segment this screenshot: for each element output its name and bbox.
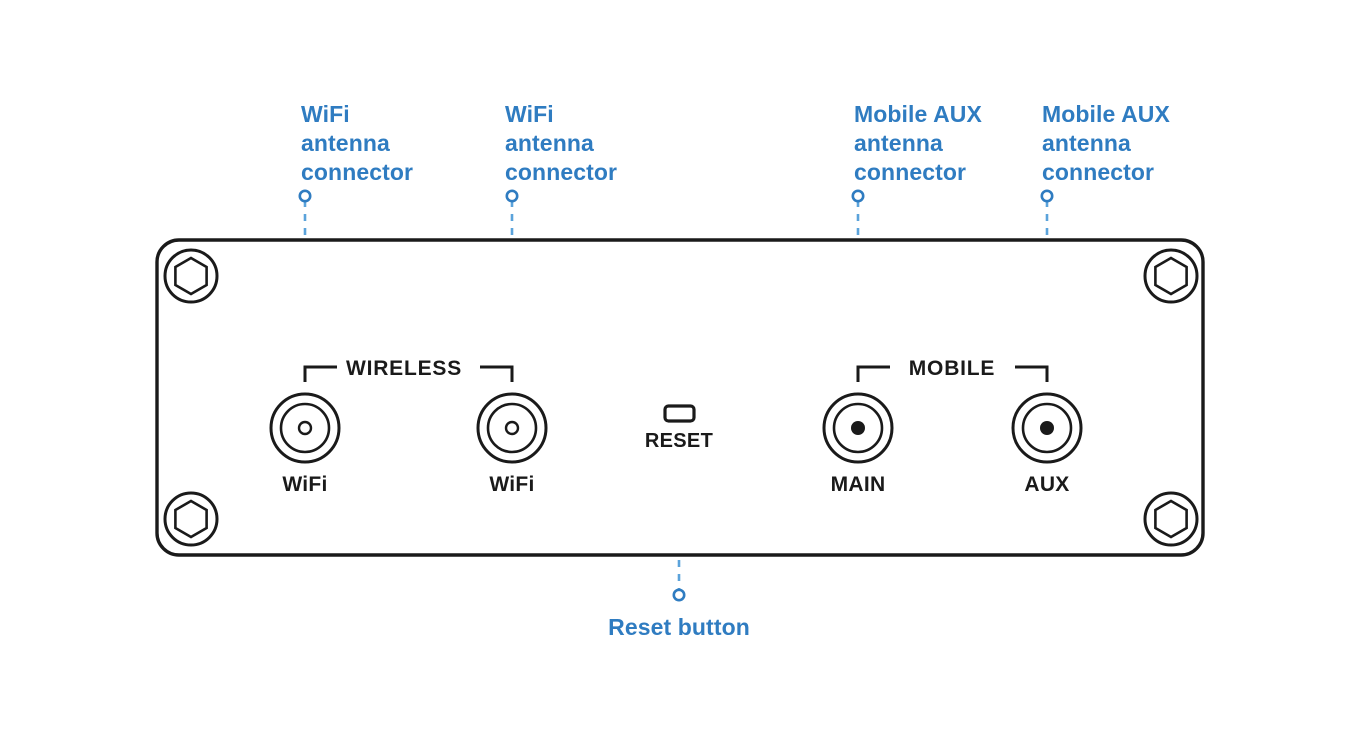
callout-mobile-main-line-2: antenna [854, 130, 943, 156]
callout-mobile-aux-line-3: connector [1042, 159, 1154, 185]
screw-bottom-left-icon [165, 493, 217, 545]
screw-hex-socket [175, 258, 206, 294]
screw-hex-socket [1155, 258, 1186, 294]
connector-center-pin-solid [851, 421, 865, 435]
callout-mobile-main-line-1: Mobile AUX [854, 101, 982, 127]
callout-wifi-2-line-3: connector [505, 159, 617, 185]
screw-hex-socket [175, 501, 206, 537]
leader-anchor-dot-mobile-main [853, 191, 863, 201]
connector-label-mobile-aux: AUX [1024, 473, 1069, 496]
callout-wifi-1-line-2: antenna [301, 130, 390, 156]
connector-label-mobile-main: MAIN [831, 473, 886, 496]
leader-anchor-dot-wifi-1 [300, 191, 310, 201]
callout-wifi-2-line-2: antenna [505, 130, 594, 156]
leader-anchor-dot-reset [674, 590, 684, 600]
callout-wifi-2-line-1: WiFi [505, 101, 554, 127]
group-label-wireless: WIRELESS [346, 357, 462, 380]
callout-wifi-1-line-3: connector [301, 159, 413, 185]
group-label-mobile: MOBILE [909, 357, 995, 380]
connector-label-wifi-1: WiFi [282, 473, 327, 496]
leader-anchor-dot-mobile-aux [1042, 191, 1052, 201]
screw-top-right-icon [1145, 250, 1197, 302]
device-panel-diagram: WiFi antenna connector WiFi antenna conn… [0, 0, 1370, 756]
screw-top-left-icon [165, 250, 217, 302]
connector-center-pin-hollow [506, 422, 518, 434]
connector-label-wifi-2: WiFi [489, 473, 534, 496]
diagram-canvas: WiFi antenna connector WiFi antenna conn… [0, 0, 1370, 756]
connector-center-pin-solid [1040, 421, 1054, 435]
connector-mobile-main[interactable]: MAIN [824, 394, 892, 496]
connector-center-pin-hollow [299, 422, 311, 434]
screw-hex-socket [1155, 501, 1186, 537]
callout-mobile-aux-line-2: antenna [1042, 130, 1131, 156]
reset-button-slot-icon [665, 406, 694, 421]
callout-mobile-main-line-3: connector [854, 159, 966, 185]
callout-wifi-1-line-1: WiFi [301, 101, 350, 127]
callout-mobile-aux-line-1: Mobile AUX [1042, 101, 1170, 127]
screw-bottom-right-icon [1145, 493, 1197, 545]
reset-button-label: RESET [645, 430, 713, 452]
callout-reset-button-label: Reset button [608, 614, 750, 640]
leader-anchor-dot-wifi-2 [507, 191, 517, 201]
